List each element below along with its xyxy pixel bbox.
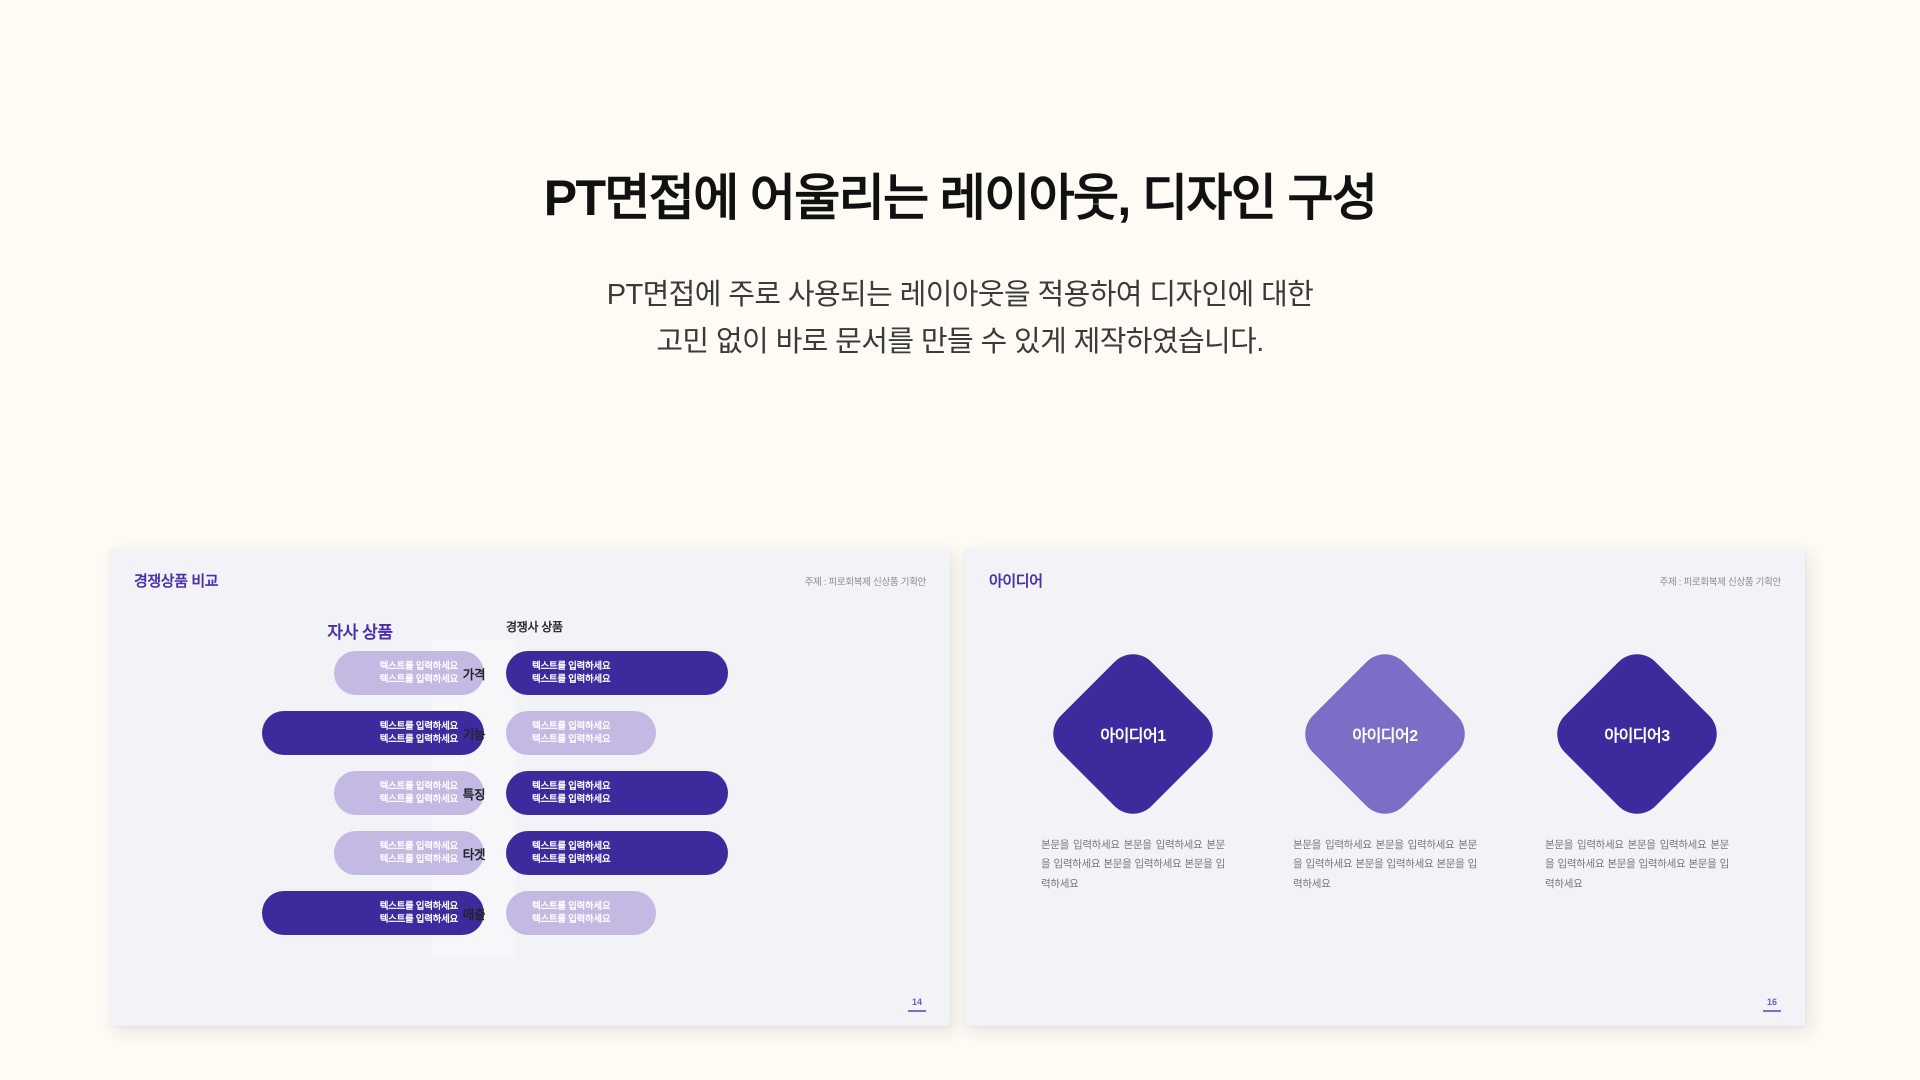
comparison-row-label: 매출 (442, 891, 506, 935)
comparison-bar-rival[interactable]: 텍스트를 입력하세요 텍스트를 입력하세요 (506, 711, 656, 755)
table-row: 텍스트를 입력하세요 텍스트를 입력하세요 기능 텍스트를 입력하세요 텍스트를… (110, 708, 950, 758)
comparison-bar-rival[interactable]: 텍스트를 입력하세요 텍스트를 입력하세요 (506, 651, 728, 695)
idea-diamond-wrapper: 아이디어3 (1537, 636, 1737, 832)
idea-label: 아이디어1 (1100, 722, 1165, 746)
idea-diamond-wrapper: 아이디어2 (1285, 636, 1485, 832)
comparison-bar-rival[interactable]: 텍스트를 입력하세요 텍스트를 입력하세요 (506, 891, 656, 935)
idea-card[interactable]: 아이디어1 본문을 입력하세요 본문을 입력하세요 본문을 입력하세요 본문을 … (1033, 636, 1233, 894)
slide-ideas[interactable]: 아이디어 주제 : 피로회복제 신상품 기획안 아이디어1 본문을 입력하세요 … (965, 548, 1805, 1026)
idea-label: 아이디어3 (1604, 722, 1669, 746)
comparison-row-label: 기능 (442, 711, 506, 755)
comparison-row-label: 타겟 (442, 831, 506, 875)
slide-competitor-comparison[interactable]: 경쟁상품 비교 주제 : 피로회복제 신상품 기획안 자사 상품 경쟁사 상품 … (110, 548, 950, 1026)
idea-diamond-wrapper: 아이디어1 (1033, 636, 1233, 832)
column-header-rival-product: 경쟁사 상품 (506, 618, 746, 635)
idea-card[interactable]: 아이디어3 본문을 입력하세요 본문을 입력하세요 본문을 입력하세요 본문을 … (1537, 636, 1737, 894)
comparison-rows: 텍스트를 입력하세요 텍스트를 입력하세요 가격 텍스트를 입력하세요 텍스트를… (110, 648, 950, 948)
slide-left-subject: 주제 : 피로회복제 신상품 기획안 (805, 574, 926, 588)
column-header-own-product: 자사 상품 (240, 618, 480, 643)
page-subtitle-line-2: 고민 없이 바로 문서를 만들 수 있게 제작하였습니다. (0, 319, 1920, 366)
table-row: 텍스트를 입력하세요 텍스트를 입력하세요 타겟 텍스트를 입력하세요 텍스트를… (110, 828, 950, 878)
page-title: PT면접에 어울리는 레이아웃, 디자인 구성 (0, 168, 1920, 228)
comparison-bar-rival[interactable]: 텍스트를 입력하세요 텍스트를 입력하세요 (506, 771, 728, 815)
comparison-bar-rival[interactable]: 텍스트를 입력하세요 텍스트를 입력하세요 (506, 831, 728, 875)
comparison-row-label: 특징 (442, 771, 506, 815)
idea-body-text: 본문을 입력하세요 본문을 입력하세요 본문을 입력하세요 본문을 입력하세요 … (1285, 836, 1485, 894)
idea-body-text: 본문을 입력하세요 본문을 입력하세요 본문을 입력하세요 본문을 입력하세요 … (1033, 836, 1233, 894)
table-row: 텍스트를 입력하세요 텍스트를 입력하세요 매출 텍스트를 입력하세요 텍스트를… (110, 888, 950, 938)
comparison-row-label: 가격 (442, 651, 506, 695)
slide-left-page-number: 14 (908, 997, 926, 1012)
idea-label: 아이디어2 (1352, 722, 1417, 746)
page-subtitle-line-1: PT면접에 주로 사용되는 레이아웃을 적용하여 디자인에 대한 (0, 272, 1920, 319)
slide-right-title: 아이디어 (989, 570, 1043, 591)
slide-right-page-number: 16 (1763, 997, 1781, 1012)
page-root: PT면접에 어울리는 레이아웃, 디자인 구성 PT면접에 주로 사용되는 레이… (0, 0, 1920, 1080)
table-row: 텍스트를 입력하세요 텍스트를 입력하세요 가격 텍스트를 입력하세요 텍스트를… (110, 648, 950, 698)
slide-left-title: 경쟁상품 비교 (134, 570, 218, 591)
idea-group: 아이디어1 본문을 입력하세요 본문을 입력하세요 본문을 입력하세요 본문을 … (965, 636, 1805, 966)
idea-card[interactable]: 아이디어2 본문을 입력하세요 본문을 입력하세요 본문을 입력하세요 본문을 … (1285, 636, 1485, 894)
comparison-column-headers: 자사 상품 경쟁사 상품 (110, 618, 950, 644)
slide-left-header: 경쟁상품 비교 주제 : 피로회복제 신상품 기획안 (110, 570, 950, 604)
slide-right-subject: 주제 : 피로회복제 신상품 기획안 (1660, 574, 1781, 588)
hero-section: PT면접에 어울리는 레이아웃, 디자인 구성 PT면접에 주로 사용되는 레이… (0, 0, 1920, 366)
page-subtitle: PT면접에 주로 사용되는 레이아웃을 적용하여 디자인에 대한 고민 없이 바… (0, 272, 1920, 366)
slide-right-header: 아이디어 주제 : 피로회복제 신상품 기획안 (965, 570, 1805, 604)
idea-body-text: 본문을 입력하세요 본문을 입력하세요 본문을 입력하세요 본문을 입력하세요 … (1537, 836, 1737, 894)
slide-gallery: 경쟁상품 비교 주제 : 피로회복제 신상품 기획안 자사 상품 경쟁사 상품 … (0, 548, 1920, 1028)
table-row: 텍스트를 입력하세요 텍스트를 입력하세요 특징 텍스트를 입력하세요 텍스트를… (110, 768, 950, 818)
